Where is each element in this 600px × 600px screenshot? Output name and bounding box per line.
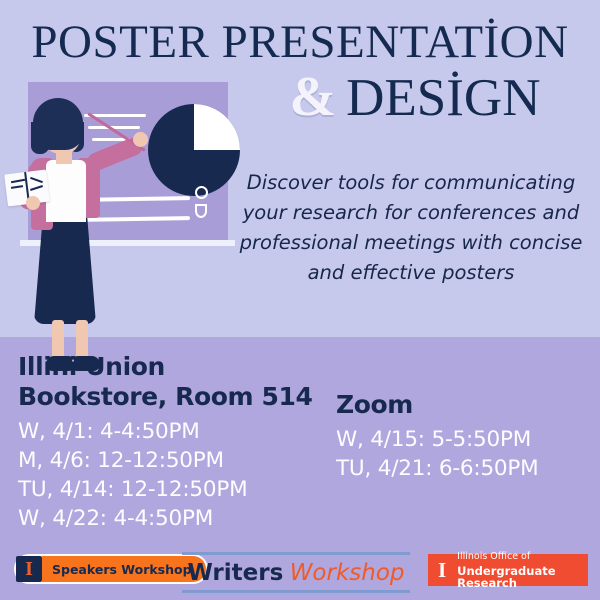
session-item: W, 4/22: 4-4:50PM (18, 504, 338, 533)
presenter-illustration (0, 70, 228, 360)
session-list: W, 4/15: 5-5:50PM TU, 4/21: 6-6:50PM (336, 425, 596, 483)
figure-hand-right (133, 132, 148, 147)
title-line-1: POSTER PRESENTATİON (0, 16, 600, 68)
rule-bottom (182, 590, 410, 593)
pie-slice-white (194, 104, 240, 150)
writers-workshop-label: Writers Workshop (182, 555, 410, 590)
session-item: W, 4/1: 4-4:50PM (18, 417, 338, 446)
title-design-word: DESİGN (346, 69, 540, 127)
figure-eyebrow (56, 124, 64, 126)
illinois-i-icon: I (16, 556, 42, 582)
logo-undergraduate-research[interactable]: I Illinois Office of Undergraduate Resea… (428, 554, 588, 586)
figure-eyebrow (70, 124, 78, 126)
pie-chart-icon (148, 104, 240, 196)
office-line: Illinois Office of (457, 551, 588, 563)
session-item: W, 4/15: 5-5:50PM (336, 425, 596, 454)
workshop-word: Workshop (290, 560, 405, 586)
figure-eye (58, 130, 61, 133)
department-line: Undergraduate Research (457, 565, 588, 589)
session-item: M, 4/6: 12-12:50PM (18, 446, 338, 475)
session-item: TU, 4/21: 6-6:50PM (336, 454, 596, 483)
writers-word: Writers (187, 560, 283, 586)
board-glyph-circle (195, 186, 208, 199)
figure-hand-left (26, 196, 40, 210)
venue-name-line: Zoom (336, 390, 596, 420)
schedule-column-zoom: Zoom W, 4/15: 5-5:50PM TU, 4/21: 6-6:50P… (336, 390, 596, 483)
board-glyph-arc (195, 204, 207, 218)
venue-name-line: Bookstore, Room 514 (18, 382, 338, 412)
figure-top (46, 160, 86, 222)
illinois-i-glyph: I (25, 559, 33, 579)
session-item: TU, 4/14: 12-12:50PM (18, 475, 338, 504)
logo-speakers-workshop[interactable]: I Speakers Workshop (14, 554, 208, 584)
ampersand-glyph: & (290, 66, 337, 128)
figure-eye (72, 130, 75, 133)
speakers-workshop-label: Speakers Workshop (52, 562, 192, 577)
figure-skirt (34, 218, 96, 324)
undergraduate-research-label: Illinois Office of Undergraduate Researc… (457, 551, 588, 589)
venue-name-line: Illini Union (18, 352, 338, 382)
illinois-i-icon: I (434, 558, 450, 582)
session-list: W, 4/1: 4-4:50PM M, 4/6: 12-12:50PM TU, … (18, 417, 338, 533)
poster-title: POSTER PRESENTATİON (0, 16, 600, 68)
title-line-2: &DESİGN (230, 66, 600, 129)
footer-logo-bar: I Speakers Workshop Writers Workshop I I… (0, 548, 600, 600)
logo-writers-workshop[interactable]: Writers Workshop (182, 552, 410, 593)
poster-description: Discover tools for communicating your re… (228, 168, 594, 288)
poster-canvas: POSTER PRESENTATİON &DESİGN Discover too… (0, 0, 600, 600)
schedule-column-illini-union: Illini Union Bookstore, Room 514 W, 4/1:… (18, 352, 338, 533)
